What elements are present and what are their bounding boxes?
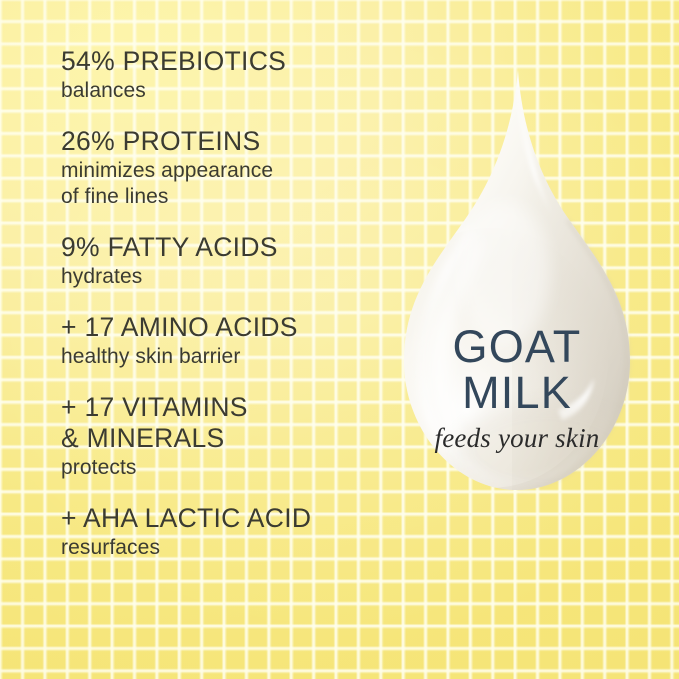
ingredient-title: + AHA LACTIC ACID	[61, 503, 391, 534]
list-item: 54% PREBIOTICS balances	[61, 46, 391, 104]
list-item: + 17 VITAMINS & MINERALS protects	[61, 392, 391, 481]
ingredient-benefit: resurfaces	[61, 535, 391, 561]
ingredient-title: 26% PROTEINS	[61, 126, 391, 157]
ingredient-benefit: protects	[61, 455, 391, 481]
list-item: + 17 AMINO ACIDS healthy skin barrier	[61, 312, 391, 370]
infographic-canvas: 54% PREBIOTICS balances 26% PROTEINS min…	[0, 0, 679, 679]
list-item: 9% FATTY ACIDS hydrates	[61, 232, 391, 290]
ingredient-benefit: healthy skin barrier	[61, 344, 391, 370]
milk-droplet-icon	[372, 58, 662, 558]
ingredient-list: 54% PREBIOTICS balances 26% PROTEINS min…	[61, 46, 391, 561]
ingredient-title: + 17 AMINO ACIDS	[61, 312, 391, 343]
ingredient-title: + 17 VITAMINS & MINERALS	[61, 392, 391, 454]
ingredient-benefit: hydrates	[61, 264, 391, 290]
list-item: + AHA LACTIC ACID resurfaces	[61, 503, 391, 561]
ingredient-title: 54% PREBIOTICS	[61, 46, 391, 77]
ingredient-title: 9% FATTY ACIDS	[61, 232, 391, 263]
ingredient-benefit: balances	[61, 78, 391, 104]
list-item: 26% PROTEINS minimizes appearance of fin…	[61, 126, 391, 210]
ingredient-benefit: minimizes appearance of fine lines	[61, 158, 391, 210]
